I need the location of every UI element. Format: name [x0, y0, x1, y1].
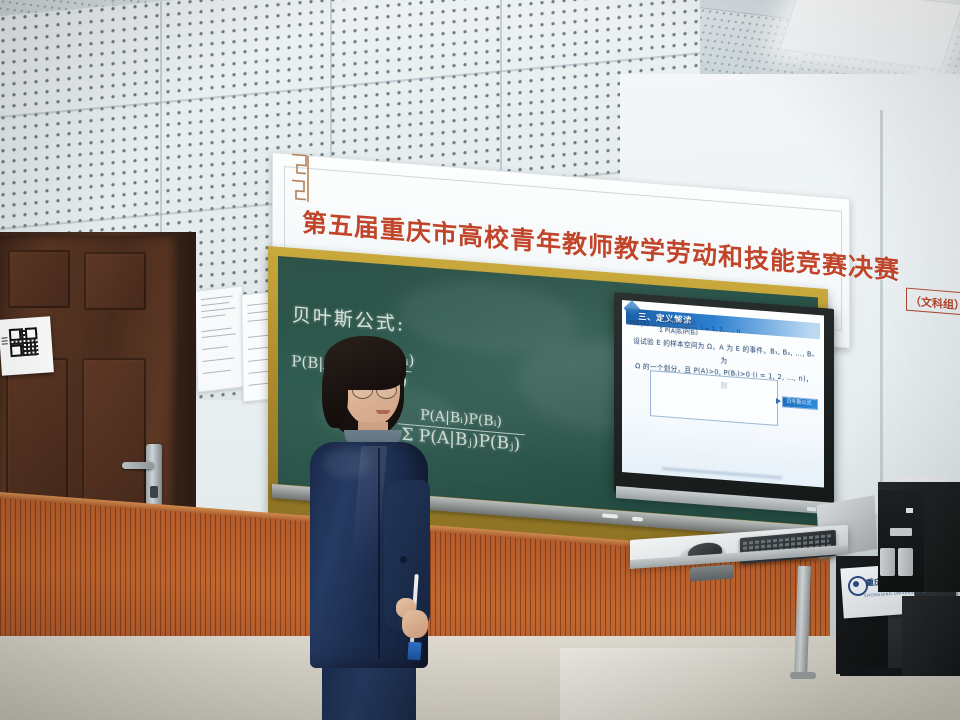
teacher-hand — [402, 610, 428, 638]
floor-equipment-box — [902, 596, 960, 676]
wall-corner-edge — [880, 110, 883, 490]
paper-roll — [898, 548, 913, 576]
cabinet-handle[interactable] — [890, 528, 912, 536]
display-power-led — [807, 507, 816, 512]
slide-arrow-icon — [776, 398, 781, 404]
desk-leg-foot — [790, 672, 816, 679]
door-lever-handle[interactable] — [122, 462, 154, 469]
cabinet-indicator-light — [906, 508, 913, 513]
coat-seam — [378, 448, 380, 658]
coat-button — [400, 556, 407, 563]
university-logo-center — [853, 581, 859, 587]
banner-subtitle: （文科组） — [910, 295, 960, 312]
cabinet-door[interactable] — [878, 490, 924, 592]
teacher-hair-side — [322, 360, 348, 428]
qr-caption — [1, 337, 9, 347]
slide-formula-lhs: P(Bᵢ|A) = — [630, 319, 657, 328]
coat-shoulder-highlight — [324, 448, 370, 478]
classroom-photo-scene: 第五届重庆市高校青年教师教学劳动和技能竞赛决赛 （文科组） 贝叶斯公式: P(B… — [0, 0, 960, 720]
teacher-mouth — [376, 410, 390, 414]
slide-fraction: P(A|Bᵢ)P(Bᵢ) Σ P(A|Bⱼ)P(Bⱼ) — [659, 316, 698, 336]
paper-roll — [880, 548, 895, 576]
slide-fraction-denominator: Σ P(A|Bⱼ)P(Bⱼ) — [659, 324, 698, 336]
flat-panel-display-screen[interactable]: 三、定义解读 设试验 E 的样本空间为 Ω，A 为 E 的事件，B₁, B₂, … — [622, 300, 824, 488]
door-keyhole — [150, 486, 158, 498]
wall-notice-sheet — [195, 285, 246, 392]
presentation-slide: 三、定义解读 设试验 E 的样本空间为 Ω，A 为 E 的事件，B₁, B₂, … — [622, 300, 824, 488]
presenting-teacher — [304, 330, 436, 720]
slide-formula-suffix: i = 1, 2, …, n — [701, 325, 740, 335]
qr-code-poster[interactable] — [0, 316, 54, 375]
qr-code-icon — [9, 327, 39, 357]
slide-formula-box — [650, 370, 778, 426]
pointer-grip — [407, 642, 421, 661]
